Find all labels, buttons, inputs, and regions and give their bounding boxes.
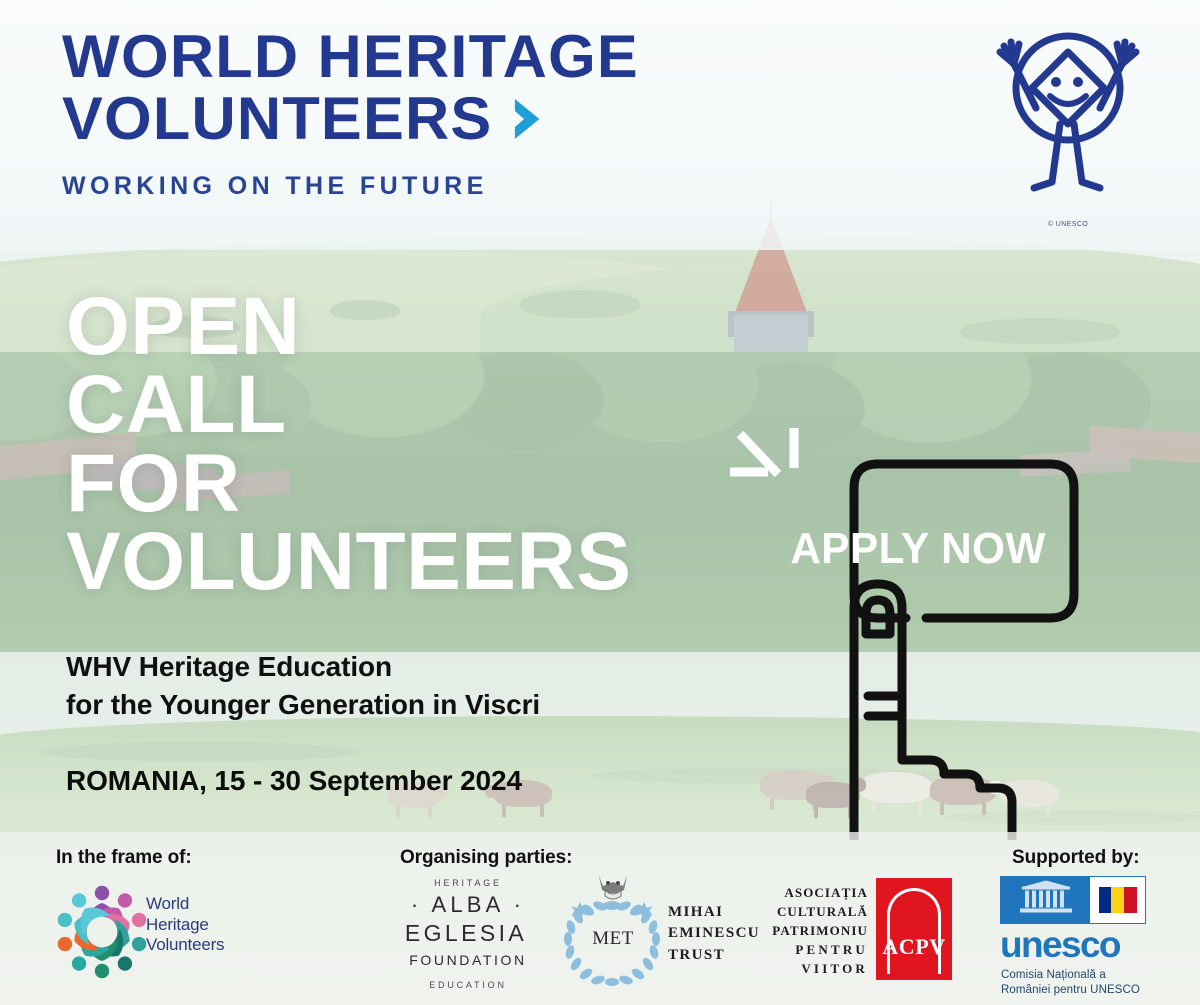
- unesco-romania-commission-logo: unesco Comisia Națională a României pent…: [1000, 876, 1164, 996]
- page-title: OPEN CALL FOR VOLUNTEERS: [66, 288, 746, 601]
- alba-logo-line3: FOUNDATION: [394, 952, 542, 968]
- world-heritage-volunteers-logo: World Heritage Volunteers: [48, 876, 208, 988]
- flag-stripes: [1099, 887, 1137, 913]
- unesco-caption-line2: României pentru UNESCO: [1001, 983, 1140, 998]
- met-wordmark-line3: TRUST: [668, 945, 760, 966]
- unesco-commission-caption: Comisia Națională a României pentru UNES…: [1001, 968, 1140, 998]
- mihai-eminescu-trust-logo: MET MIHAI EMINESCU TRUST: [560, 872, 740, 992]
- acpv-wordmark-line1: ASOCIAȚIA: [752, 884, 868, 903]
- apply-now-button[interactable]: APPLY NOW: [730, 428, 1100, 840]
- supported-by-label: Supported by:: [1012, 847, 1139, 869]
- alba-logo-line2: EGLESIA: [392, 920, 540, 947]
- acpv-mark-text: ACPV: [876, 934, 952, 960]
- alba-eglesia-foundation-logo: HERITAGE · ALBA · EGLESIA FOUNDATION EDU…: [394, 878, 542, 990]
- whv-wordmark-line2: Heritage: [146, 915, 224, 936]
- brand-title-line1: WORLD HERITAGE: [62, 26, 639, 88]
- temple-glyph: [1018, 881, 1074, 920]
- acpv-wordmark-line2: CULTURALĂ: [752, 903, 868, 922]
- poster-footer: In the frame of: Organising parties: Sup…: [0, 832, 1200, 1005]
- project-subtitle-line2: for the Younger Generation in Viscri: [66, 686, 706, 724]
- project-subtitle: WHV Heritage Education for the Younger G…: [66, 648, 706, 724]
- project-subtitle-line1: WHV Heritage Education: [66, 648, 706, 686]
- met-wordmark-line2: EMINESCU: [668, 923, 760, 944]
- poster-header-band: WORLD HERITAGE VOLUNTEERS WORKING ON THE…: [0, 0, 1200, 250]
- romania-flag-icon: [1090, 877, 1145, 923]
- headline-line-2: CALL: [66, 366, 746, 444]
- unesco-temple-emblem-icon: [1001, 877, 1090, 923]
- whv-logo-wordmark: World Heritage Volunteers: [146, 894, 224, 956]
- acpv-logo: ASOCIAȚIA CULTURALĂ PATRIMONIU PENTRU VI…: [752, 878, 952, 990]
- organising-parties-label: Organising parties:: [400, 847, 572, 869]
- met-wordmark-line1: MIHAI: [668, 902, 760, 923]
- headline-line-4: VOLUNTEERS: [66, 523, 746, 601]
- acpv-arch-mark-icon: ACPV: [876, 878, 952, 980]
- circle-of-people-icon: [48, 878, 156, 986]
- unesco-caption-line1: Comisia Națională a: [1001, 968, 1140, 983]
- acpv-arch-outline: [887, 888, 941, 974]
- whv-wordmark-line3: Volunteers: [146, 935, 224, 956]
- alba-arc-top-text: HERITAGE: [394, 878, 542, 888]
- button-plate-outline: [854, 464, 1074, 618]
- brand-block: WORLD HERITAGE VOLUNTEERS WORKING ON THE…: [62, 26, 628, 201]
- acpv-wordmark: ASOCIAȚIA CULTURALĂ PATRIMONIU PENTRU VI…: [752, 884, 868, 979]
- acpv-wordmark-line3: PATRIMONIU: [752, 922, 868, 941]
- headline-line-3: FOR: [66, 445, 746, 523]
- acpv-wordmark-line4: PENTRU: [752, 941, 868, 960]
- in-the-frame-of-label: In the frame of:: [56, 847, 192, 869]
- chevron-right-icon: [511, 96, 546, 142]
- brand-tagline: WORKING ON THE FUTURE: [62, 172, 628, 201]
- met-monogram: MET: [580, 928, 646, 950]
- alba-arc-bottom-text: EDUCATION: [394, 980, 542, 990]
- location-and-dates: ROMANIA, 15 - 30 September 2024: [66, 765, 522, 797]
- acpv-wordmark-line5: VIITOR: [752, 960, 868, 979]
- mascot-copyright-credit: © UNESCO: [1048, 221, 1088, 228]
- world-heritage-emblem-waving-person-icon: © UNESCO: [978, 16, 1158, 226]
- headline-line-1: OPEN: [66, 288, 746, 366]
- unesco-emblem: [1000, 876, 1146, 924]
- met-wordmark: MIHAI EMINESCU TRUST: [668, 902, 760, 966]
- brand-title-line2-row: VOLUNTEERS: [62, 88, 639, 150]
- unesco-wordmark: unesco: [1000, 926, 1120, 963]
- poster-root: WORLD HERITAGE VOLUNTEERS WORKING ON THE…: [0, 0, 1200, 1005]
- click-sparkle-icon: [730, 428, 794, 474]
- alba-logo-line1: · ALBA ·: [394, 892, 542, 918]
- brand-title-line2: VOLUNTEERS: [62, 88, 492, 150]
- whv-wordmark-line1: World: [146, 894, 224, 915]
